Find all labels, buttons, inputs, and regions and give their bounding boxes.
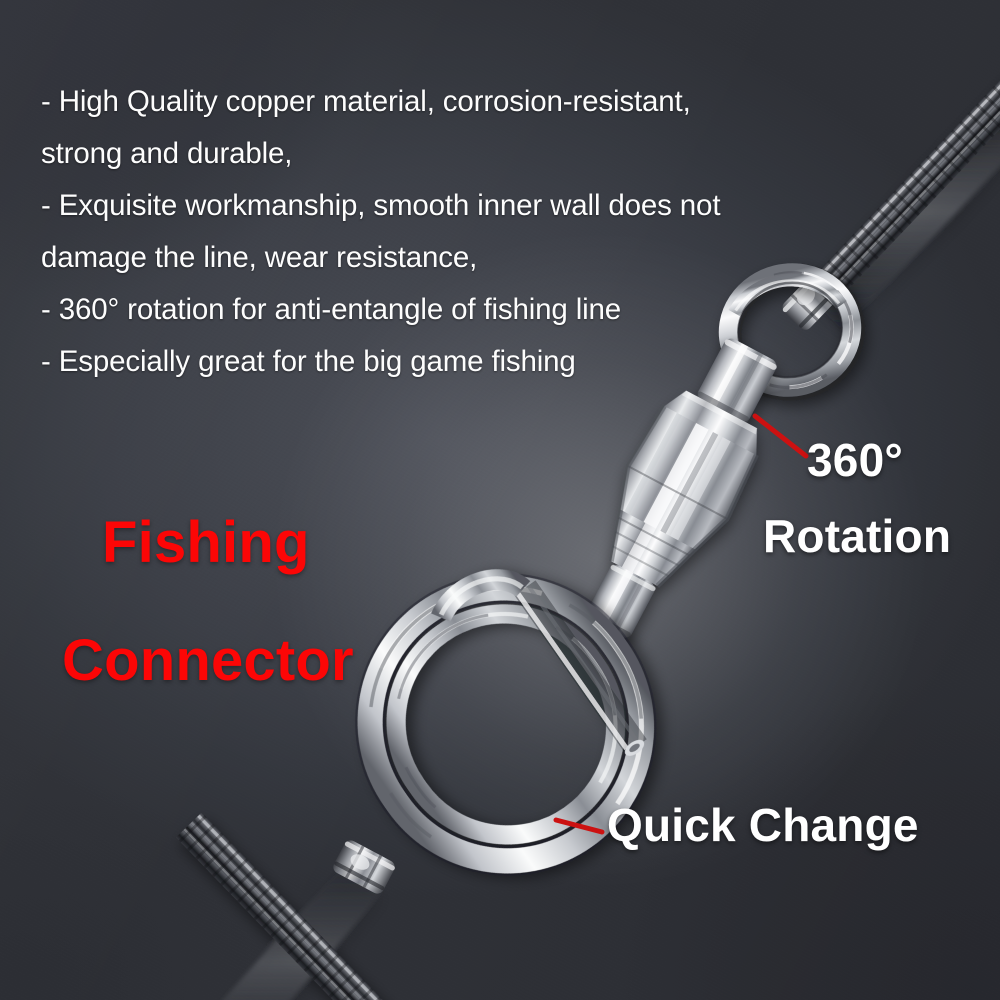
braided-leader-line-bottom — [176, 812, 424, 1000]
callout-rotation-line-1: 360° — [807, 433, 951, 487]
product-marketing-image: - High Quality copper material, corrosio… — [0, 0, 1000, 1000]
brand-headline: Fishing Connector — [62, 484, 462, 720]
feature-list: - High Quality copper material, corrosio… — [41, 76, 841, 388]
feature-line-4: damage the line, wear resistance, — [41, 232, 841, 284]
callout-rotation-line-2: Rotation — [763, 509, 951, 563]
callout-360-rotation: 360° Rotation — [807, 433, 951, 563]
feature-line-1: - High Quality copper material, corrosio… — [41, 76, 841, 128]
callout-quick-change: Quick Change — [607, 798, 919, 852]
feature-line-6: - Especially great for the big game fish… — [41, 336, 841, 388]
feature-line-5: - 360° rotation for anti-entangle of fis… — [41, 284, 841, 336]
feature-line-3: - Exquisite workmanship, smooth inner wa… — [41, 180, 841, 232]
feature-line-2: strong and durable, — [41, 128, 841, 180]
brand-headline-line-1: Fishing — [62, 484, 462, 602]
brand-headline-line-2: Connector — [62, 602, 462, 720]
